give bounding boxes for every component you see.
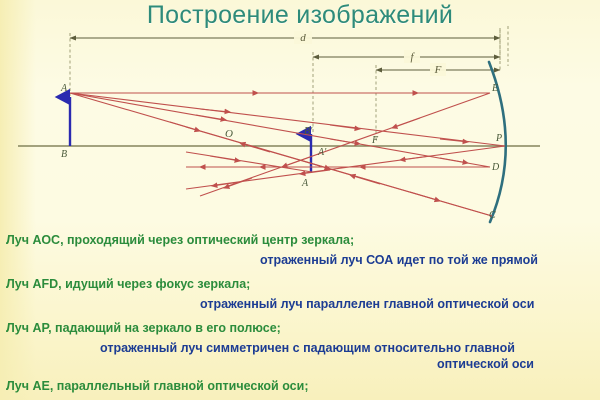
- ray-AP: [70, 93, 505, 146]
- caption-ray3-green: Луч АР, падающий на зеркало в его полюсе…: [6, 321, 281, 336]
- ray-convergence-marks: [186, 152, 312, 172]
- label-point-F: F: [371, 135, 379, 146]
- dimension-F-label: F: [434, 64, 442, 76]
- label-point-A: A: [60, 83, 68, 94]
- caption-ray2-blue: отраженный луч параллелен главной оптиче…: [200, 297, 534, 312]
- label-point-D: D: [491, 162, 500, 173]
- caption-ray1-green: Луч АОС, проходящий через оптический цен…: [6, 233, 354, 248]
- caption-ray1-blue: отраженный луч СОА идет по той же прямой: [260, 253, 538, 268]
- caption-ray3-blue-line2: оптической оси: [437, 357, 534, 372]
- label-image-tip: A: [301, 178, 309, 189]
- dimension-lines: d f F: [70, 26, 508, 140]
- label-point-C: C: [489, 210, 496, 221]
- optics-diagram: d f F: [0, 0, 600, 232]
- label-point-B: B: [61, 149, 67, 160]
- caption-block: Луч АОС, проходящий через оптический цен…: [0, 231, 600, 400]
- label-point-P: P: [495, 133, 502, 144]
- label-point-A1: A': [317, 147, 327, 158]
- label-point-E: E: [491, 83, 498, 94]
- dimension-d-label: d: [300, 32, 306, 44]
- caption-ray4-green: Луч АЕ, параллельный главной оптической …: [6, 379, 308, 394]
- slide-root: Построение изображений: [0, 0, 600, 400]
- caption-ray3-blue-line1: отраженный луч симметричен с падающим от…: [100, 341, 515, 356]
- label-point-B1: B': [304, 126, 313, 137]
- caption-ray2-green: Луч AFD, идущий через фокус зеркала;: [6, 277, 250, 292]
- label-point-O: O: [225, 128, 233, 140]
